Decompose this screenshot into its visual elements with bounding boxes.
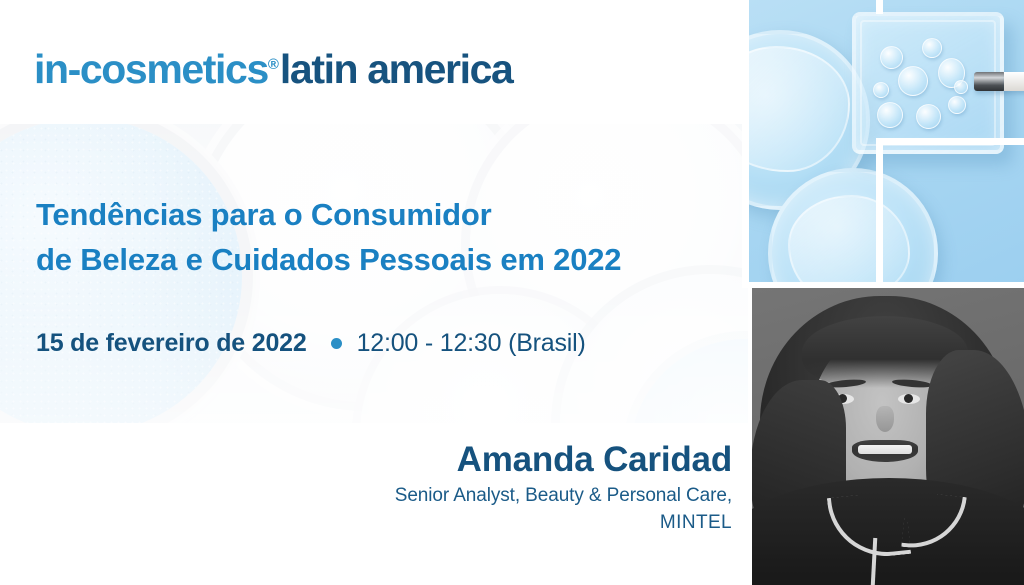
panel-stroke-top xyxy=(876,0,883,14)
water-droplet-3 xyxy=(898,66,928,96)
water-droplet-5 xyxy=(873,82,889,98)
logo-secondary-text: latin america xyxy=(280,46,513,92)
speaker-details: Amanda Caridad Senior Analyst, Beauty & … xyxy=(180,438,732,536)
water-droplet-9 xyxy=(954,80,968,94)
event-date: 15 de fevereiro de 2022 xyxy=(36,329,307,358)
speaker-role: Senior Analyst, Beauty & Personal Care, xyxy=(180,482,732,509)
speaker-company: MINTEL xyxy=(180,509,732,536)
event-time: 12:00 - 12:30 (Brasil) xyxy=(357,329,586,358)
water-droplet-8 xyxy=(948,96,966,114)
water-droplet-7 xyxy=(916,104,941,129)
event-title-line-2: de Beleza e Cuidados Pessoais em 2022 xyxy=(36,237,726,282)
event-title-line-1: Tendências para o Consumidor xyxy=(36,192,726,237)
panel-stroke-vertical xyxy=(876,140,883,288)
speaker-portrait xyxy=(752,288,1024,585)
water-droplet-1 xyxy=(880,46,903,69)
event-datetime: 15 de fevereiro de 2022 12:00 - 12:30 (B… xyxy=(36,329,586,358)
bullet-dot-icon xyxy=(331,338,342,349)
water-droplet-2 xyxy=(922,38,942,58)
webinar-banner: in-cosmetics®latin america Tendências pa… xyxy=(0,0,1024,585)
portrait-nose xyxy=(876,406,894,432)
dropper-bulb-icon xyxy=(1004,72,1024,91)
panel-edge-left xyxy=(742,0,749,288)
logo-primary-text: in-cosmetics xyxy=(34,46,268,92)
event-title: Tendências para o Consumidor de Beleza e… xyxy=(36,192,726,282)
portrait-teeth xyxy=(858,445,912,454)
portrait-pupil-right xyxy=(904,394,913,403)
left-content-column: in-cosmetics®latin america Tendências pa… xyxy=(0,0,748,585)
registered-trademark-icon: ® xyxy=(268,56,279,73)
dropper-barrel-icon xyxy=(974,72,1006,91)
speaker-name: Amanda Caridad xyxy=(180,438,732,482)
brand-logo[interactable]: in-cosmetics®latin america xyxy=(34,46,512,93)
water-droplet-6 xyxy=(877,102,903,128)
panel-stroke-horizontal xyxy=(876,138,1024,145)
